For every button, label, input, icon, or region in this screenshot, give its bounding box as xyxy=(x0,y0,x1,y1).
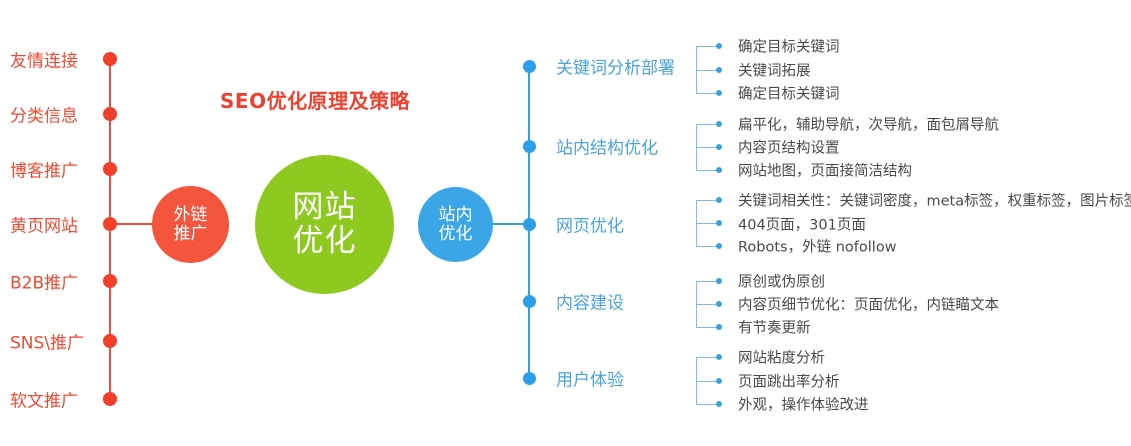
node-label-line2: 推广 xyxy=(174,225,208,243)
detail-dot xyxy=(716,90,722,96)
left-branch-dot xyxy=(103,52,117,66)
detail-item[interactable]: 内容页细节优化：页面优化，内链瞄文本 xyxy=(738,294,999,315)
detail-dot xyxy=(716,121,722,127)
detail-dot xyxy=(716,243,722,249)
right-branch-label-user-experience[interactable]: 用户体验 xyxy=(556,366,624,391)
left-branch-dot xyxy=(103,217,117,231)
detail-dot xyxy=(716,278,722,284)
left-branch-dot xyxy=(103,107,117,121)
detail-dot xyxy=(716,43,722,49)
detail-dot xyxy=(716,167,722,173)
detail-item[interactable]: 网站粘度分析 xyxy=(738,347,825,368)
detail-bracket-stub xyxy=(696,124,718,125)
right-branch-dot xyxy=(523,218,536,231)
right-branch-dot xyxy=(523,372,536,385)
left-branch-dot xyxy=(103,274,117,288)
detail-dot xyxy=(716,67,722,73)
detail-dot xyxy=(716,324,722,330)
right-branch-dot xyxy=(523,295,536,308)
detail-item[interactable]: 原创或伪原创 xyxy=(738,271,825,292)
detail-dot xyxy=(716,144,722,150)
detail-bracket-stub xyxy=(696,281,718,282)
detail-bracket-stub xyxy=(696,357,718,358)
node-label-line2: 优化 xyxy=(293,225,357,258)
detail-bracket-stub xyxy=(696,404,718,405)
detail-dot xyxy=(716,378,722,384)
left-branch-label-huangyewangzhan[interactable]: 黄页网站 xyxy=(10,212,78,237)
detail-item[interactable]: 有节奏更新 xyxy=(738,317,811,338)
detail-item[interactable]: Robots，外链 nofollow xyxy=(738,236,897,257)
node-external-link-promotion[interactable]: 外链 推广 xyxy=(152,186,229,263)
right-branch-label-site-structure[interactable]: 站内结构优化 xyxy=(556,134,658,159)
detail-bracket-stub xyxy=(696,223,718,224)
detail-bracket-stub xyxy=(696,170,718,171)
left-branch-dot xyxy=(103,162,117,176)
detail-bracket-stub xyxy=(696,381,718,382)
detail-item[interactable]: 关键词相关性：关键词密度，meta标签，权重标签，图片标签 xyxy=(738,190,1131,211)
node-onsite-optimization[interactable]: 站内 优化 xyxy=(418,187,493,262)
detail-bracket-stub xyxy=(696,147,718,148)
detail-bracket-stub xyxy=(696,70,718,71)
detail-item[interactable]: 页面跳出率分析 xyxy=(738,371,840,392)
detail-bracket-stub xyxy=(696,46,718,47)
node-label-line2: 优化 xyxy=(439,225,473,243)
detail-item[interactable]: 内容页结构设置 xyxy=(738,137,840,158)
detail-item[interactable]: 确定目标关键词 xyxy=(738,83,840,104)
right-branch-dot xyxy=(523,60,536,73)
left-branch-label-boketuiguang[interactable]: 博客推广 xyxy=(10,157,78,182)
page-title: SEO优化原理及策略 xyxy=(220,85,410,114)
node-label-line1: 站内 xyxy=(439,206,473,224)
detail-dot xyxy=(716,197,722,203)
detail-item[interactable]: 扁平化，辅助导航，次导航，面包屑导航 xyxy=(738,114,999,135)
detail-bracket-stub xyxy=(696,200,718,201)
detail-dot xyxy=(716,220,722,226)
detail-bracket-stub xyxy=(696,304,718,305)
right-branch-label-keyword-analysis[interactable]: 关键词分析部署 xyxy=(556,54,675,79)
left-branch-label-fenleixinxi[interactable]: 分类信息 xyxy=(10,102,78,127)
detail-item[interactable]: 外观，操作体验改进 xyxy=(738,394,869,415)
left-branch-dot xyxy=(103,392,117,406)
left-branch-label-ruanwentuiguang[interactable]: 软文推广 xyxy=(10,387,78,412)
left-branch-label-youqinglianjie[interactable]: 友情连接 xyxy=(10,47,78,72)
right-branch-dot xyxy=(523,140,536,153)
detail-item[interactable]: 关键词拓展 xyxy=(738,60,811,81)
detail-bracket-stub xyxy=(696,327,718,328)
right-branch-label-page-optimization[interactable]: 网页优化 xyxy=(556,212,624,237)
detail-dot xyxy=(716,301,722,307)
node-label-line1: 外链 xyxy=(174,206,208,224)
left-branch-dot xyxy=(103,334,117,348)
detail-bracket-stub xyxy=(696,246,718,247)
detail-item[interactable]: 确定目标关键词 xyxy=(738,36,840,57)
detail-item[interactable]: 网站地图，页面接简洁结构 xyxy=(738,160,912,181)
seo-mindmap-canvas: SEO优化原理及策略 友情连接 分类信息 博客推广 黄页网站 B2B推广 SNS… xyxy=(0,0,1131,446)
node-website-optimization[interactable]: 网站 优化 xyxy=(255,155,394,294)
detail-dot xyxy=(716,401,722,407)
detail-item[interactable]: 404页面，301页面 xyxy=(738,214,866,235)
node-label-line1: 网站 xyxy=(293,191,357,224)
detail-dot xyxy=(716,354,722,360)
right-branch-label-content-building[interactable]: 内容建设 xyxy=(556,289,624,314)
left-branch-label-b2btuiguang[interactable]: B2B推广 xyxy=(10,269,78,294)
left-branch-label-snstuiguang[interactable]: SNS\推广 xyxy=(10,329,84,354)
detail-bracket-stub xyxy=(696,93,718,94)
